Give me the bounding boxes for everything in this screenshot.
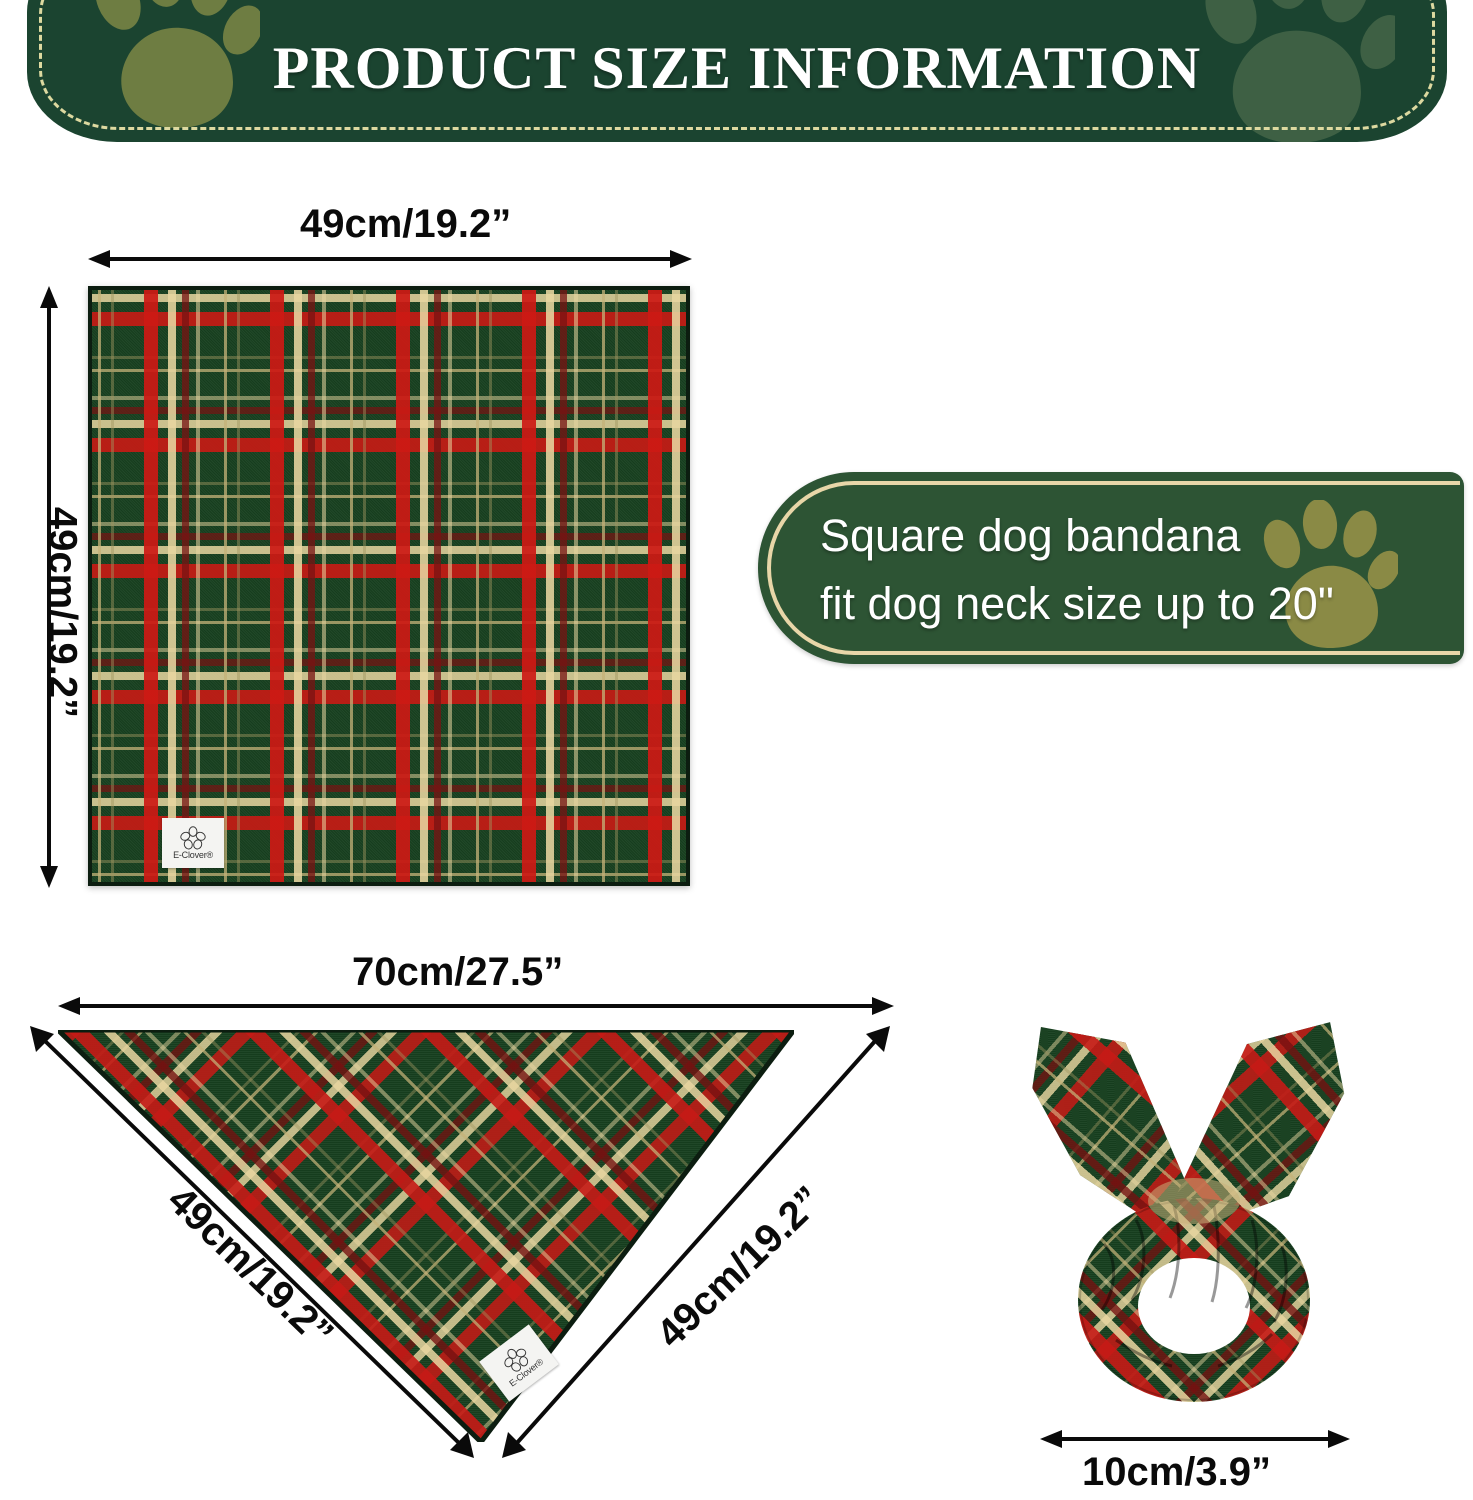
square-left-dimension-arrow (38, 286, 60, 888)
callout-text-block: Square dog bandana fit dog neck size up … (820, 502, 1334, 639)
product-size-infographic: PRODUCT SIZE INFORMATION 49cm/19.2” 49cm… (0, 0, 1473, 1500)
scrunchie-dimension-arrow (1040, 1428, 1350, 1450)
triangle-right-dimension-arrow (498, 1020, 900, 1460)
scrunchie-dimension-label: 10cm/3.9” (1082, 1450, 1271, 1495)
scrunchie-image (1020, 1010, 1370, 1410)
square-top-dimension-arrow (88, 248, 692, 270)
square-top-dimension-label: 49cm/19.2” (300, 202, 511, 247)
clover-flower-icon (180, 826, 206, 850)
callout-box: Square dog bandana fit dog neck size up … (758, 472, 1464, 664)
brand-label-tag-square: E-Clover® (162, 818, 224, 868)
callout-line-2: fit dog neck size up to 20" (820, 570, 1334, 638)
scrunchie-ruffle-shading (1078, 1198, 1310, 1402)
callout-line-1: Square dog bandana (820, 502, 1334, 570)
header-banner: PRODUCT SIZE INFORMATION (27, 0, 1447, 142)
triangle-top-dimension-arrow (58, 995, 894, 1017)
triangle-top-dimension-label: 70cm/27.5” (352, 950, 563, 995)
square-bandana-image: E-Clover® (88, 286, 690, 886)
brand-label-text: E-Clover® (173, 850, 213, 860)
scrunchie-knot (1148, 1178, 1240, 1224)
page-title: PRODUCT SIZE INFORMATION (27, 0, 1447, 142)
